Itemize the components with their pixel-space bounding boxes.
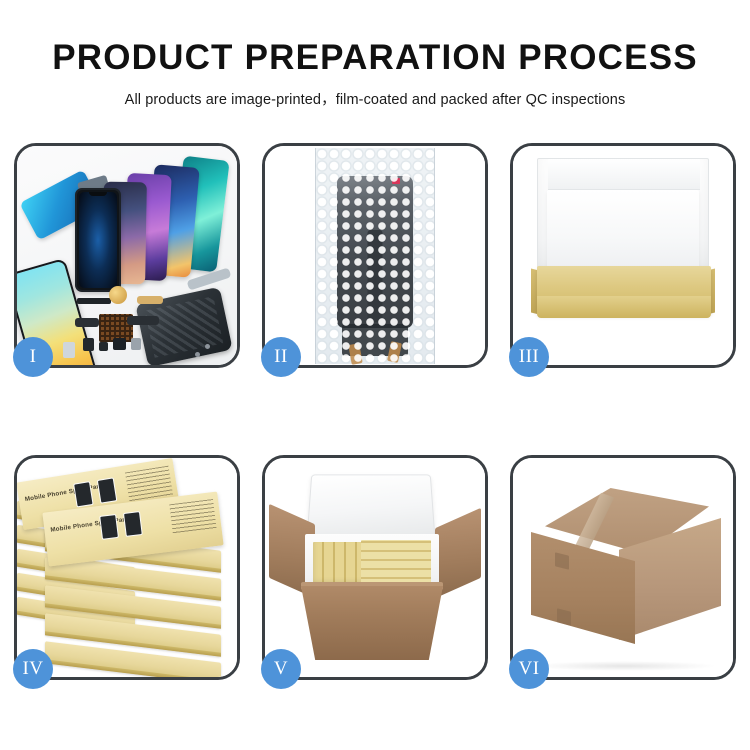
- bubble-wrap-icon: [315, 148, 435, 364]
- carton-front-face-icon: [531, 532, 635, 644]
- red-sticker-icon: [392, 178, 400, 184]
- carton-body-icon: [301, 586, 443, 660]
- wrapped-screen-icon: [337, 176, 413, 328]
- step-6-image: [513, 458, 733, 677]
- foam-sheet-icon: [547, 190, 699, 276]
- box-product-image-2-icon: [97, 477, 118, 503]
- header: PRODUCT PREPARATION PROCESS All products…: [0, 0, 750, 109]
- part-sim-tray-icon: [63, 342, 75, 358]
- part-gold-disc-icon: [109, 286, 127, 304]
- process-step-5: V: [262, 455, 488, 680]
- step-2-image: [265, 146, 485, 365]
- process-step-3: III: [510, 143, 736, 368]
- part-flex-small-icon: [75, 318, 99, 327]
- box-product-image-4-icon: [123, 511, 143, 537]
- box-stack: Mobile Phone Spare Parts Mobile Phone Sp…: [17, 458, 237, 677]
- step-badge-2: II: [261, 337, 301, 377]
- step-badge-6: VI: [509, 649, 549, 689]
- phone-black-screen-icon: [75, 188, 121, 292]
- shipping-carton: [531, 488, 721, 650]
- part-flex-dark-icon: [127, 316, 159, 325]
- bubble-wrap-photo: [265, 146, 485, 365]
- carton-label-bottom-icon: [557, 608, 571, 625]
- foam-box-photo: [513, 146, 733, 365]
- box-product-image-1-icon: [73, 481, 94, 507]
- step-badge-3: III: [509, 337, 549, 377]
- packed-boxes-row-2-icon: [361, 540, 431, 586]
- part-flex-gold-icon: [137, 296, 163, 304]
- box-spec-lines-front: [169, 499, 216, 534]
- box-print-label-rear: Mobile Phone Spare Parts: [24, 482, 105, 503]
- process-step-4: Mobile Phone Spare Parts Mobile Phone Sp…: [14, 455, 240, 680]
- step-1-image: [17, 146, 237, 365]
- process-step-1: I: [14, 143, 240, 368]
- step-badge-5: V: [261, 649, 301, 689]
- step-badge-4: IV: [13, 649, 53, 689]
- page-title: PRODUCT PREPARATION PROCESS: [0, 38, 750, 78]
- page-subtitle: All products are image-printed，film-coat…: [0, 88, 750, 109]
- spare-parts-photo: [17, 146, 237, 365]
- process-step-grid: I II: [14, 143, 736, 680]
- step-5-image: [265, 458, 485, 677]
- part-square-3-icon: [113, 338, 126, 350]
- part-strip-icon: [77, 298, 111, 304]
- step-4-image: Mobile Phone Spare Parts Mobile Phone Sp…: [17, 458, 237, 677]
- process-step-6: VI: [510, 455, 736, 680]
- part-screw-1-icon: [195, 352, 200, 357]
- part-square-4-icon: [131, 338, 141, 350]
- carton-loading-photo: [265, 458, 485, 677]
- part-screw-2-icon: [205, 344, 210, 349]
- boxed-products-photo: Mobile Phone Spare Parts Mobile Phone Sp…: [17, 458, 237, 677]
- phone-notch-icon: [89, 192, 107, 196]
- product-preparation-infographic: PRODUCT PREPARATION PROCESS All products…: [0, 0, 750, 750]
- box-product-image-3-icon: [99, 514, 119, 540]
- step-badge-1: I: [13, 337, 53, 377]
- foam-lid-icon: [307, 474, 436, 538]
- box-print-label-front: Mobile Phone Spare Parts: [50, 516, 131, 534]
- carton-shadow: [531, 661, 717, 671]
- sealed-carton-photo: [513, 458, 733, 677]
- process-step-2: II: [262, 143, 488, 368]
- step-3-image: [513, 146, 733, 365]
- kraft-tray-front-icon: [537, 296, 711, 318]
- part-square-2-icon: [99, 342, 108, 351]
- part-square-1-icon: [83, 338, 94, 351]
